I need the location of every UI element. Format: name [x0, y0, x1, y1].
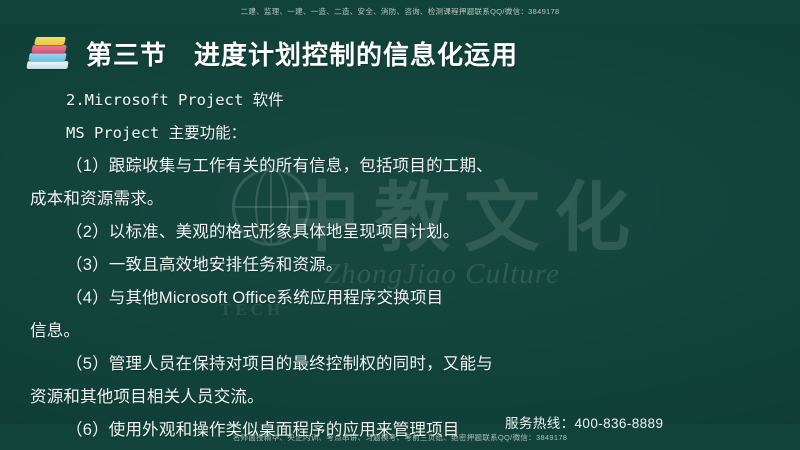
top-promo-text: 二建、监理、一建、一造、二造、安全、消防、咨询、检测课程押题联系QQ/微信：38… [0, 6, 800, 17]
slide-header: 第三节 进度计划控制的信息化运用 [26, 29, 518, 77]
book-layer-top [34, 37, 66, 45]
stacked-books-icon [26, 33, 72, 73]
body-line: 资源和其他项目相关人员交流。 [30, 381, 766, 414]
body-line: （5）管理人员在保持对项目的最终控制权的同时，又能与 [66, 348, 766, 381]
body-line: MS Project 主要功能： [66, 117, 766, 150]
slide-body: 2.Microsoft Project 软件 MS Project 主要功能： … [66, 84, 766, 447]
book-layer-second [31, 45, 67, 53]
body-line: （4）与其他Microsoft Office系统应用程序交换项目 [66, 282, 766, 315]
footer-hotline: 服务热线：400-836-8889 [505, 412, 663, 432]
slide-root: 二建、监理、一建、一造、二造、安全、消防、咨询、检测课程押题联系QQ/微信：38… [0, 0, 800, 450]
body-line: 信息。 [30, 315, 766, 348]
footer-promo-text: 名师面授精华、央企内训、考点串讲、习题模考、考前三页纸、绝密押题联系QQ/微信：… [0, 432, 800, 443]
page-title: 第三节 进度计划控制的信息化运用 [86, 35, 518, 72]
body-line: 2.Microsoft Project 软件 [66, 84, 766, 117]
book-layer-third [28, 53, 66, 61]
body-line: （1）跟踪收集与工作有关的所有信息，包括项目的工期、 [66, 150, 766, 183]
body-line: （3）一致且高效地安排任务和资源。 [66, 249, 766, 282]
body-line: （2）以标准、美观的格式形象具体地呈现项目计划。 [66, 216, 766, 249]
book-layer-bottom [26, 61, 68, 69]
body-line: 成本和资源需求。 [30, 183, 766, 216]
